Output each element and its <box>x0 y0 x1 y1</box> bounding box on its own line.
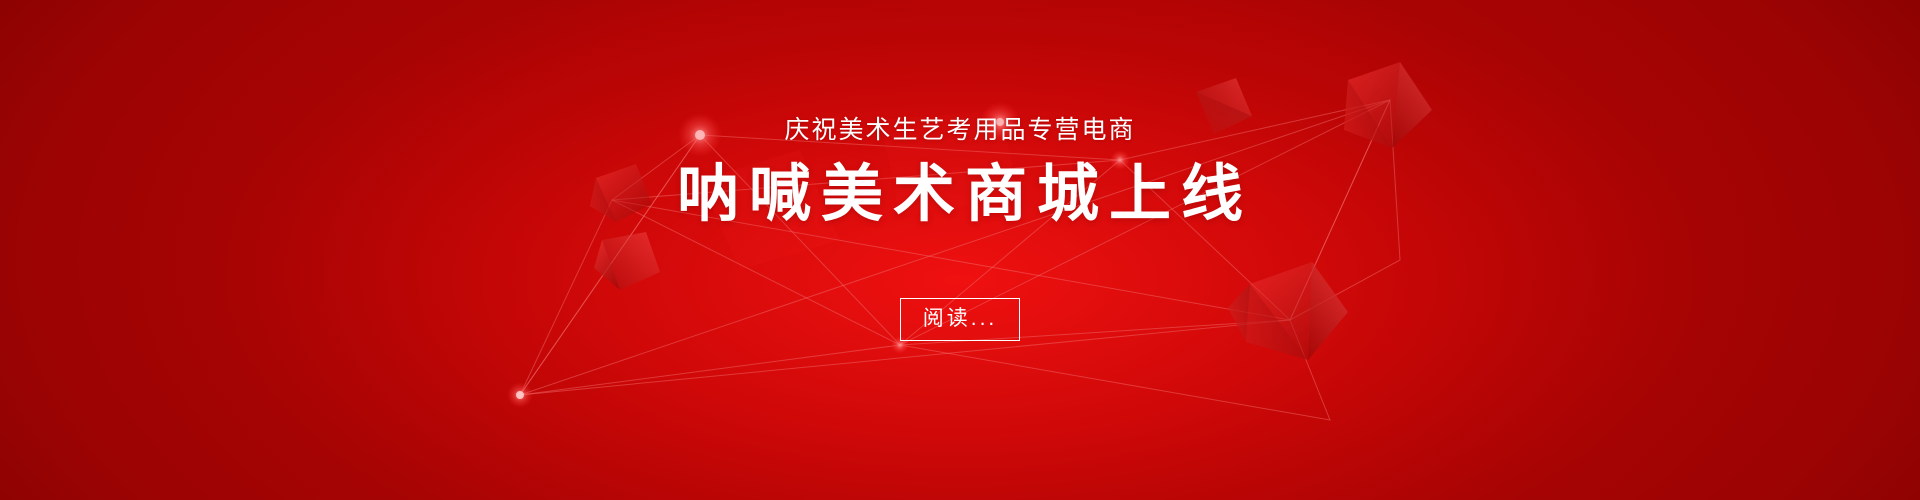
banner-subtitle: 庆祝美术生艺考用品专营电商 <box>784 118 1135 143</box>
read-more-button[interactable]: 阅读... <box>900 298 1021 341</box>
banner-headline: 呐喊美术商城上线 <box>667 161 1253 230</box>
banner-content: 庆祝美术生艺考用品专营电商 呐喊美术商城上线 阅读... <box>0 0 1920 500</box>
promo-banner: 庆祝美术生艺考用品专营电商 呐喊美术商城上线 阅读... <box>0 0 1920 500</box>
